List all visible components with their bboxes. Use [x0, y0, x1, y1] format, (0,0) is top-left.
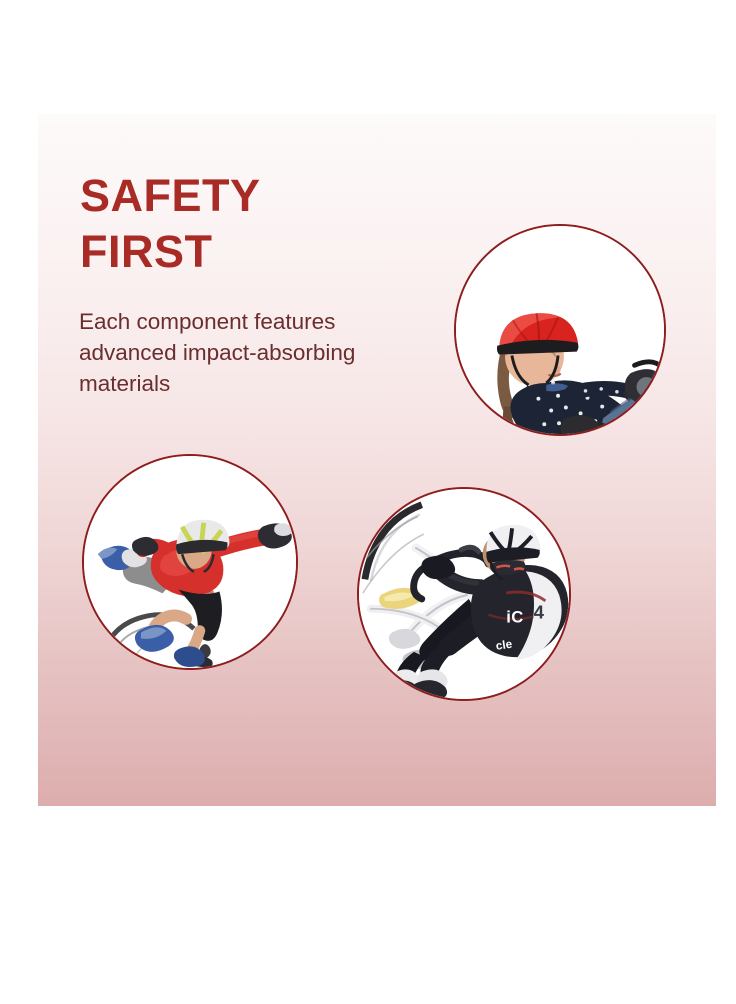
- photo-circle-girl-skater: [454, 224, 666, 436]
- page-title: SAFETY FIRST: [80, 168, 261, 280]
- svg-text:4: 4: [534, 602, 545, 623]
- photo-circle-red-jersey-rider: [82, 454, 298, 670]
- svg-text:iC: iC: [506, 607, 524, 626]
- girl-skater-image: [456, 226, 664, 434]
- red-jersey-rider-image: [84, 456, 296, 668]
- road-racer-image: iC 4 cle: [359, 489, 569, 699]
- svg-text:cle: cle: [495, 638, 513, 653]
- subtitle-text: Each component features advanced impact-…: [79, 306, 429, 399]
- photo-circle-road-racer: iC 4 cle: [357, 487, 571, 701]
